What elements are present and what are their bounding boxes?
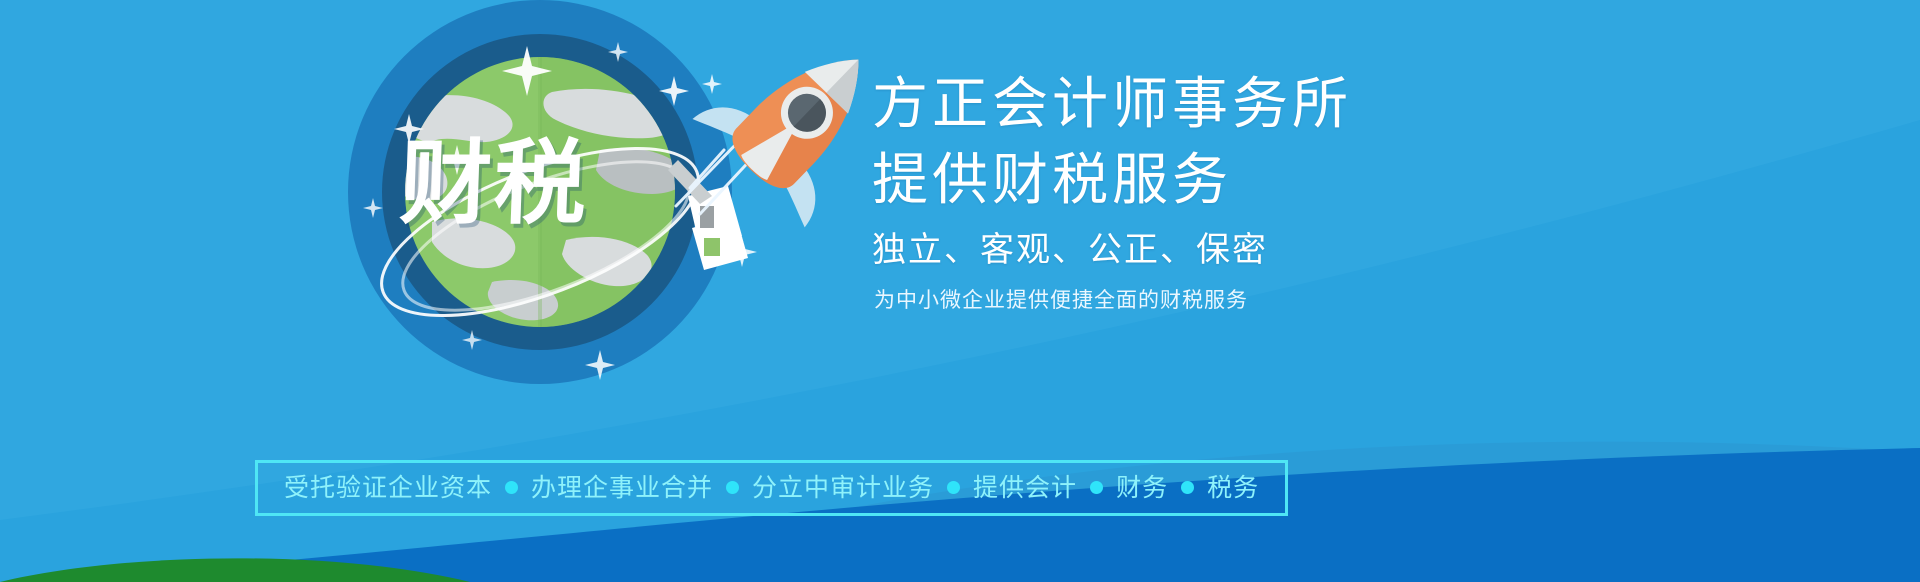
service-list: 受托验证企业资本办理企事业合并分立中审计业务提供会计财务税务	[284, 474, 1259, 502]
headline-line-3: 独立、客观、公正、保密	[872, 222, 1632, 278]
service-separator-dot	[1090, 481, 1103, 494]
promotional-banner: 财税 方正会计师事务所 提供财税服务 独立、客观、公正、保密 为中小微企业提供便…	[0, 0, 1920, 582]
service-item: 受托验证企业资本	[284, 474, 492, 502]
service-separator-dot	[1181, 481, 1194, 494]
headline-line-4: 为中小微企业提供便捷全面的财税服务	[874, 284, 1632, 318]
service-item: 分立中审计业务	[752, 474, 934, 502]
service-list-bar: 受托验证企业资本办理企事业合并分立中审计业务提供会计财务税务	[255, 460, 1288, 516]
headline-line-2: 提供财税服务	[872, 144, 1632, 216]
globe-wordmark: 财税	[398, 138, 589, 230]
service-item: 税务	[1207, 474, 1259, 502]
service-separator-dot	[726, 481, 739, 494]
service-item: 财务	[1116, 474, 1168, 502]
service-item: 提供会计	[973, 474, 1077, 502]
service-item: 办理企事业合并	[531, 474, 713, 502]
service-separator-dot	[947, 481, 960, 494]
service-separator-dot	[505, 481, 518, 494]
headline-text-block: 方正会计师事务所 提供财税服务 独立、客观、公正、保密 为中小微企业提供便捷全面…	[872, 68, 1632, 318]
headline-line-1: 方正会计师事务所	[872, 68, 1632, 140]
